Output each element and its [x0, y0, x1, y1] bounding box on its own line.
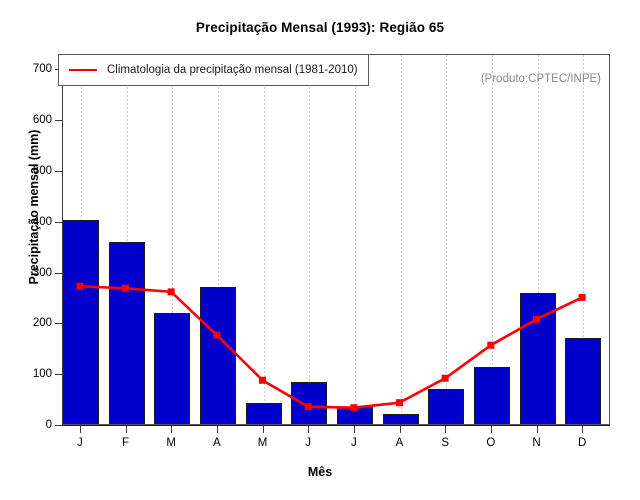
x-tick-8 — [445, 426, 446, 433]
x-tick-label-1: F — [111, 437, 141, 449]
x-tick-label-7: A — [385, 437, 415, 449]
y-axis-title: Precipitação mensal (mm) — [27, 77, 41, 337]
bar-j-6 — [337, 407, 373, 424]
chart-page: Precipitação Mensal (1993): Região 65 (P… — [0, 0, 640, 500]
bar-o-9 — [474, 367, 510, 424]
x-tick-label-2: M — [156, 437, 186, 449]
y-axis-line — [62, 54, 63, 425]
product-annotation: (Produto:CPTEC/INPE) — [481, 73, 601, 85]
y-tick-100 — [55, 374, 62, 375]
x-tick-4 — [263, 426, 264, 433]
x-tick-3 — [217, 426, 218, 433]
bar-d-11 — [565, 338, 601, 424]
x-tick-label-5: J — [293, 437, 323, 449]
bar-n-10 — [520, 293, 556, 424]
x-axis-title: Mês — [0, 465, 640, 479]
y-tick-label-100: 100 — [8, 368, 52, 380]
x-tick-0 — [80, 426, 81, 433]
bar-series — [63, 55, 609, 424]
x-tick-label-3: A — [202, 437, 232, 449]
x-tick-label-8: S — [430, 437, 460, 449]
x-tick-2 — [171, 426, 172, 433]
y-tick-200 — [55, 323, 62, 324]
y-tick-label-700: 700 — [8, 63, 52, 75]
bar-m-2 — [154, 313, 190, 424]
legend-label: Climatologia da precipitação mensal (198… — [107, 64, 358, 76]
y-tick-300 — [55, 273, 62, 274]
x-tick-label-4: M — [248, 437, 278, 449]
y-tick-400 — [55, 222, 62, 223]
x-tick-label-9: O — [476, 437, 506, 449]
y-tick-600 — [55, 120, 62, 121]
x-tick-label-0: J — [65, 437, 95, 449]
x-tick-11 — [582, 426, 583, 433]
bar-a-7 — [383, 414, 419, 424]
legend-box: Climatologia da precipitação mensal (198… — [58, 54, 369, 86]
bar-j-5 — [291, 382, 327, 424]
y-tick-label-0: 0 — [8, 419, 52, 431]
x-tick-7 — [400, 426, 401, 433]
bar-m-4 — [246, 403, 282, 424]
x-axis-line — [62, 425, 610, 426]
x-tick-label-11: D — [567, 437, 597, 449]
x-tick-label-6: J — [339, 437, 369, 449]
y-tick-0 — [55, 425, 62, 426]
x-tick-10 — [537, 426, 538, 433]
bar-f-1 — [109, 242, 145, 424]
plot-area: (Produto:CPTEC/INPE) — [62, 54, 610, 425]
bar-a-3 — [200, 287, 236, 424]
x-tick-1 — [126, 426, 127, 433]
legend-line-swatch — [69, 69, 97, 71]
bar-j-0 — [63, 220, 99, 424]
x-tick-label-10: N — [522, 437, 552, 449]
x-tick-5 — [308, 426, 309, 433]
x-tick-6 — [354, 426, 355, 433]
y-tick-500 — [55, 171, 62, 172]
bar-s-8 — [428, 389, 464, 424]
chart-title: Precipitação Mensal (1993): Região 65 — [0, 20, 640, 35]
x-tick-9 — [491, 426, 492, 433]
